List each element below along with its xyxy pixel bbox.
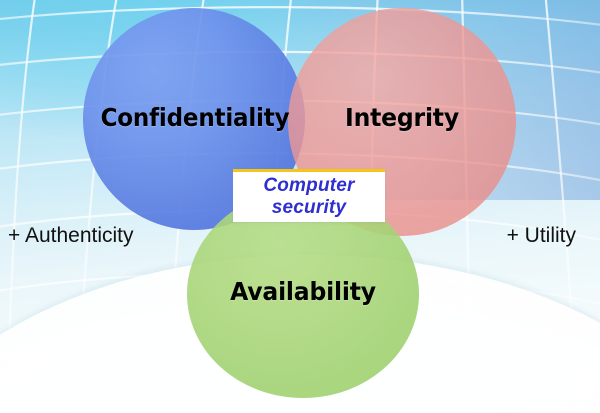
callout-line-1: Computer xyxy=(263,175,354,197)
computer-security-callout: Computer security xyxy=(233,169,385,222)
side-note-authenticity: + Authenticity xyxy=(8,224,134,248)
circle-label-availability: Availability xyxy=(194,277,412,306)
side-note-utility: + Utility xyxy=(507,224,576,248)
callout-line-2: security xyxy=(272,197,346,219)
circle-label-integrity: Integrity xyxy=(295,103,509,132)
diagram-canvas: Confidentiality Integrity Availability C… xyxy=(0,0,600,413)
